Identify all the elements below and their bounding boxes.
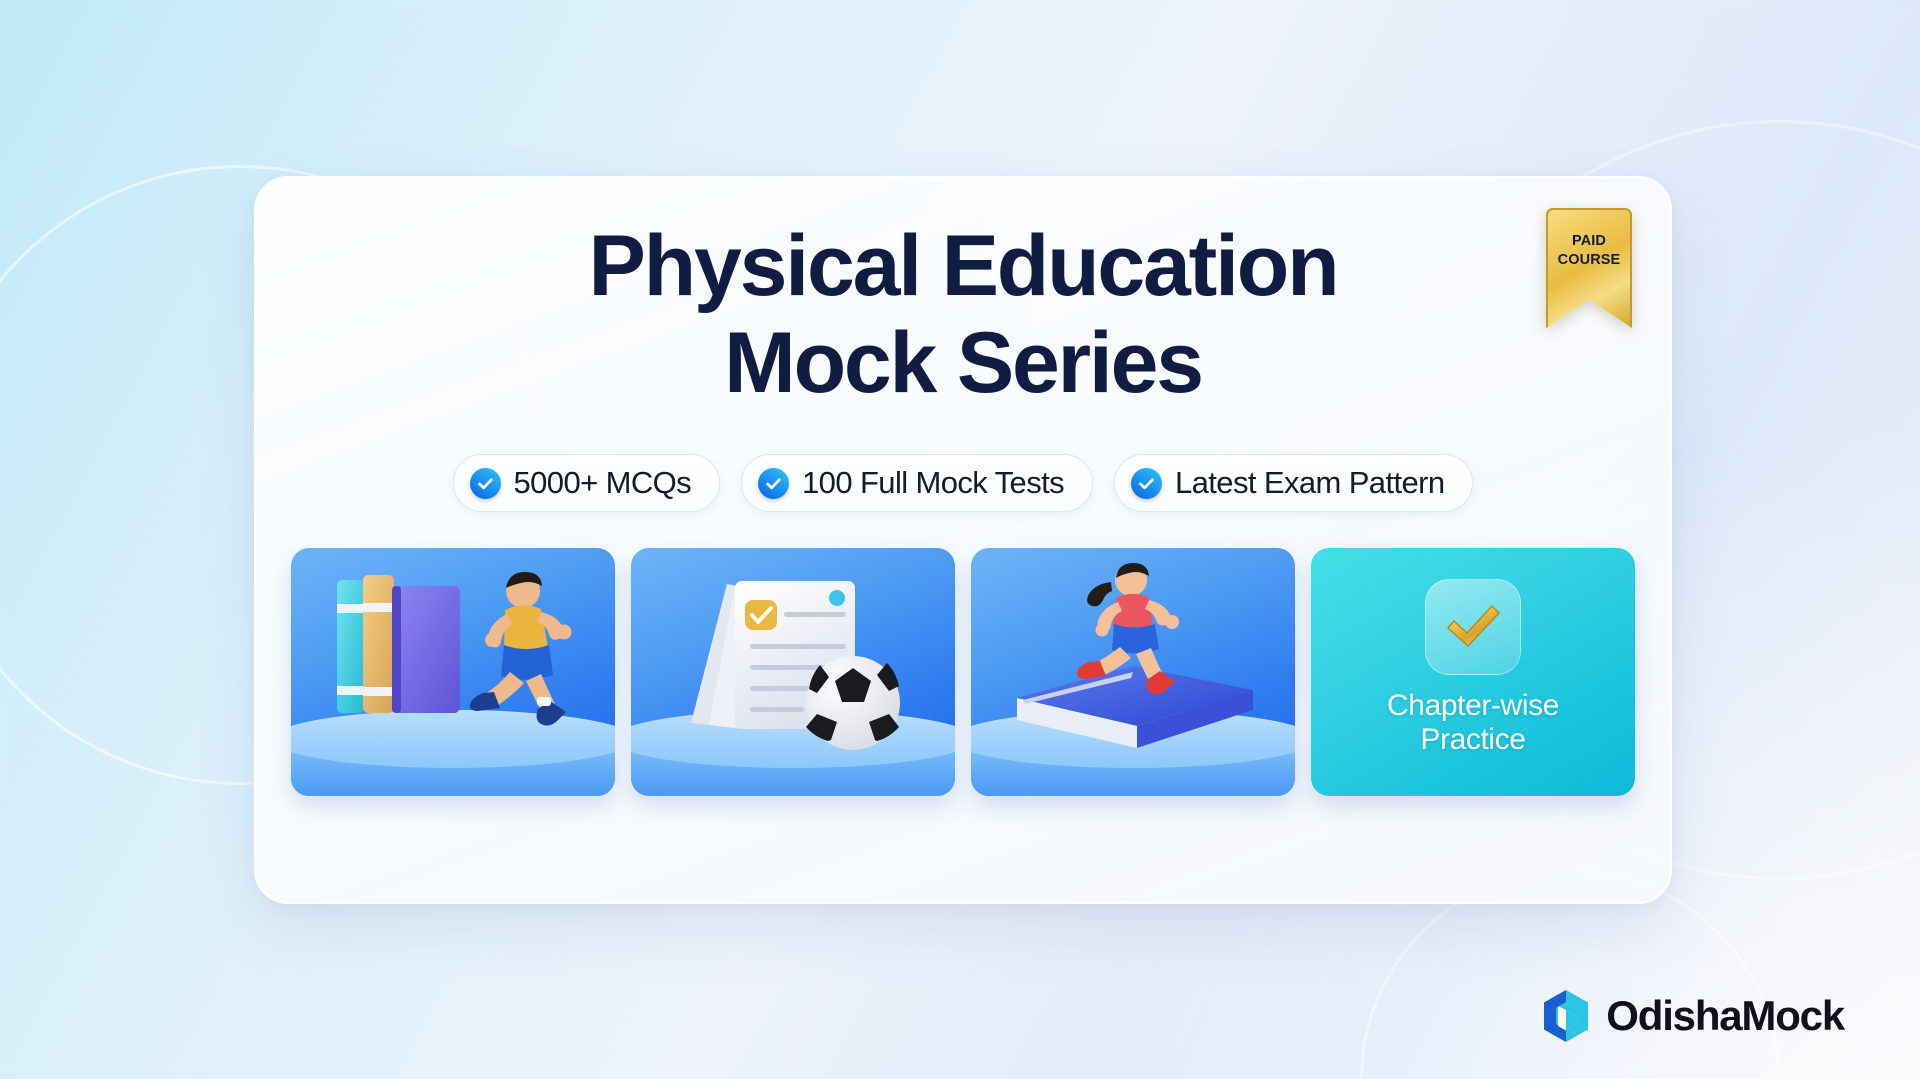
page-title-line-2: Mock Series — [312, 315, 1614, 412]
tile-books-runner[interactable] — [291, 548, 615, 796]
books-and-runner-illustration — [291, 548, 615, 796]
tile-runner-book[interactable] — [971, 548, 1295, 796]
page-title: Physical Education Mock Series PAID COUR… — [312, 218, 1614, 412]
check-circle-icon — [470, 468, 501, 499]
tile-checklist-football[interactable] — [631, 548, 955, 796]
bookmark-ribbon-icon: PAID COURSE — [1546, 208, 1632, 328]
tile-caption: Chapter-wise Practice — [1387, 689, 1559, 759]
feature-pill-row: 5000+ MCQs 100 Full Mock Tests Latest Ex… — [453, 454, 1474, 512]
feature-pill-exam-pattern[interactable]: Latest Exam Pattern — [1114, 454, 1473, 512]
feature-pill-label: 100 Full Mock Tests — [802, 465, 1064, 501]
odishamock-hexagon-logo-icon — [1542, 989, 1590, 1043]
paid-course-badge-line-1: PAID — [1572, 232, 1606, 251]
brand-logo[interactable]: OdishaMock — [1542, 989, 1844, 1043]
runner-on-book-illustration — [971, 548, 1295, 796]
check-circle-icon — [758, 468, 789, 499]
feature-tile-row: Chapter-wise Practice — [291, 548, 1635, 796]
gold-check-icon — [1425, 579, 1521, 675]
paid-course-badge: PAID COURSE — [1546, 208, 1632, 328]
paid-course-badge-line-2: COURSE — [1558, 251, 1621, 270]
checklist-and-football-illustration — [631, 548, 955, 796]
tile-caption-line-1: Chapter-wise — [1387, 689, 1559, 724]
brand-name: OdishaMock — [1606, 992, 1844, 1040]
feature-pill-label: Latest Exam Pattern — [1175, 465, 1444, 501]
check-circle-icon — [1131, 468, 1162, 499]
tile-chapter-wise-practice[interactable]: Chapter-wise Practice — [1311, 548, 1635, 796]
feature-pill-mock-tests[interactable]: 100 Full Mock Tests — [741, 454, 1093, 512]
tile-caption-line-2: Practice — [1387, 723, 1559, 758]
feature-pill-label: 5000+ MCQs — [514, 465, 692, 501]
hero-card: Physical Education Mock Series PAID COUR… — [254, 176, 1672, 904]
page-title-line-1: Physical Education — [312, 218, 1614, 315]
feature-pill-mcqs[interactable]: 5000+ MCQs — [453, 454, 721, 512]
